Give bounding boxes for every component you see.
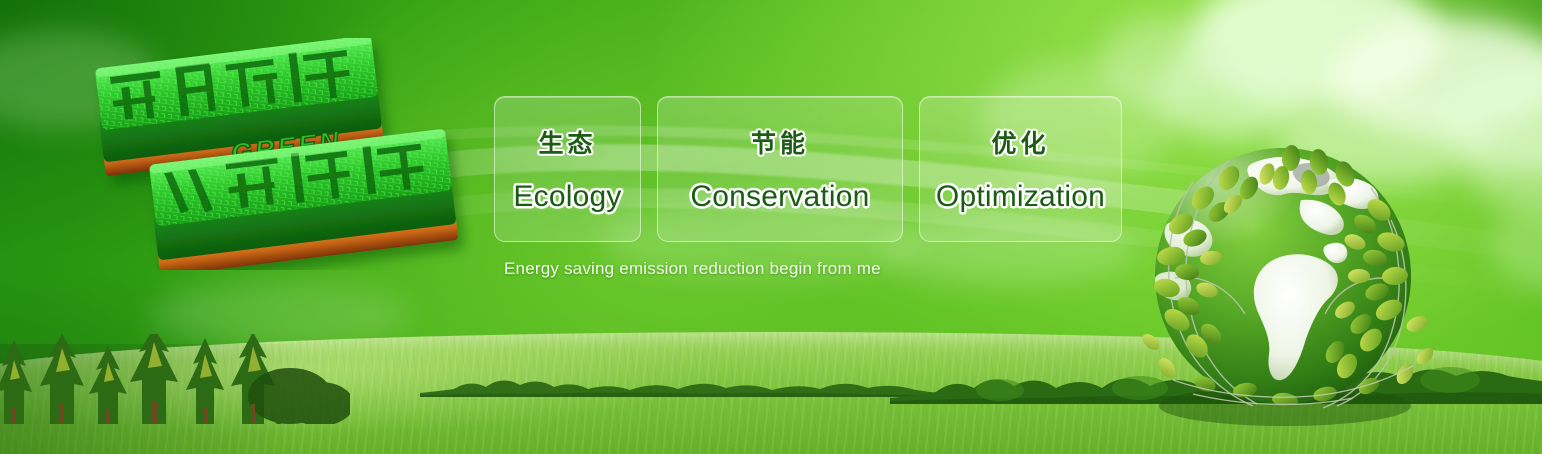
feature-card-optimization-cn: 优化 xyxy=(991,124,1049,160)
energy-saving-3d-logo: GREEN 3D extr xyxy=(92,38,492,270)
ivy-covered-earth-globe: Green globe wrapped in ivy leaves with w… xyxy=(1133,128,1433,428)
banner-tagline: Energy saving emission reduction begin f… xyxy=(504,259,881,279)
feature-card-conservation-en: Conservation xyxy=(690,180,869,214)
feature-card-conservation-cn: 节能 xyxy=(751,124,809,160)
feature-card-group: 生态 Ecology 节能 Conservation 优化 Optimizati… xyxy=(494,96,1122,242)
feature-card-optimization-en: Optimization xyxy=(936,180,1105,214)
eco-banner: GREEN 3D extr xyxy=(0,0,1542,454)
feature-card-ecology[interactable]: 生态 Ecology xyxy=(494,96,641,242)
feature-card-ecology-en: Ecology xyxy=(513,180,621,214)
feature-card-conservation[interactable]: 节能 Conservation xyxy=(657,96,903,242)
feature-card-optimization[interactable]: 优化 Optimization xyxy=(919,96,1122,242)
feature-card-ecology-cn: 生态 xyxy=(538,124,596,160)
ground-shadow xyxy=(0,344,380,454)
